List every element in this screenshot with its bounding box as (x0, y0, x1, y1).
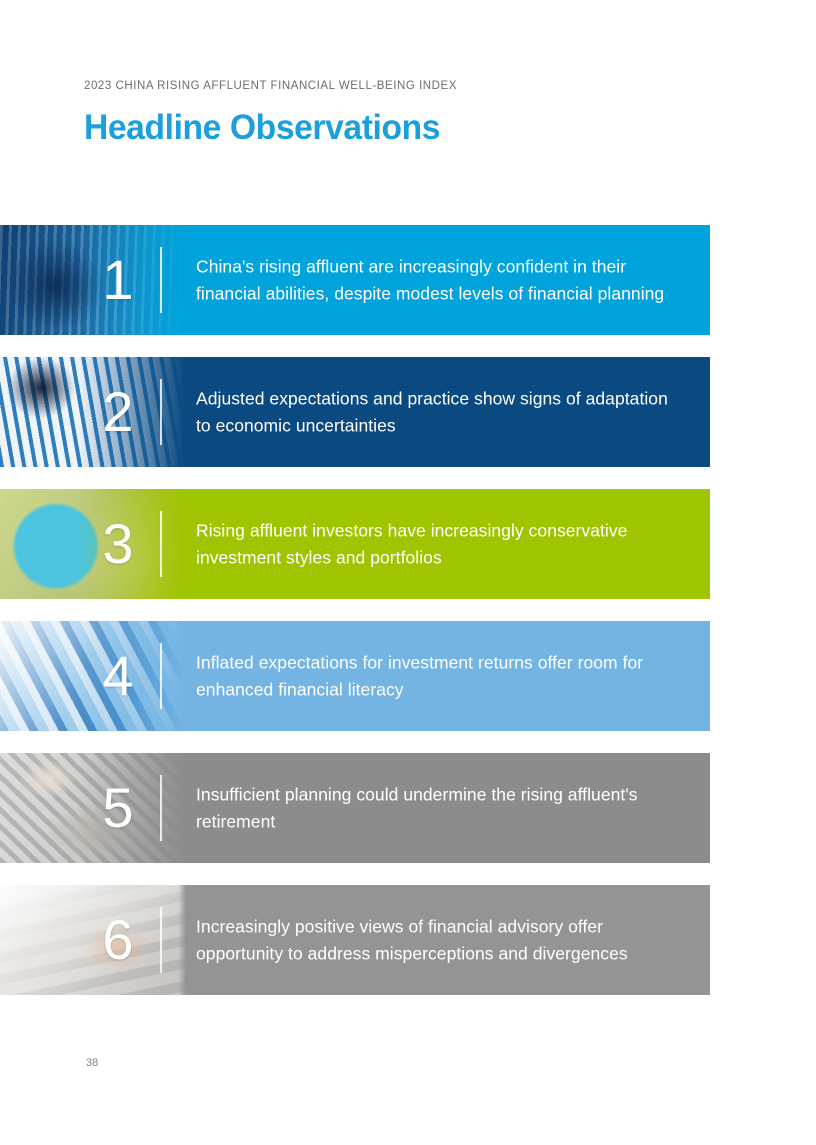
observation-band: 3Rising affluent investors have increasi… (0, 489, 710, 599)
vertical-divider (160, 247, 162, 313)
vertical-divider (160, 643, 162, 709)
observation-text: Inflated expectations for investment ret… (196, 649, 686, 702)
observation-text: Adjusted expectations and practice show … (196, 385, 686, 438)
observations-list: 1China's rising affluent are increasingl… (0, 225, 710, 995)
observation-band: 6Increasingly positive views of financia… (0, 885, 710, 995)
observation-number: 5 (92, 780, 144, 836)
observation-text: Increasingly positive views of financial… (196, 913, 686, 966)
vertical-divider (160, 775, 162, 841)
vertical-divider (160, 907, 162, 973)
page-number: 38 (86, 1057, 98, 1069)
observation-number: 3 (92, 516, 144, 572)
report-eyebrow-label: 2023 CHINA RISING AFFLUENT FINANCIAL WEL… (84, 80, 744, 94)
observation-band: 5Insufficient planning could undermine t… (0, 753, 710, 863)
observation-band: 1China's rising affluent are increasingl… (0, 225, 710, 335)
observation-number: 6 (92, 912, 144, 968)
observation-band: 2Adjusted expectations and practice show… (0, 357, 710, 467)
observation-text: Rising affluent investors have increasin… (196, 517, 686, 570)
observation-number: 1 (92, 252, 144, 308)
page-title: Headline Observations (84, 110, 718, 147)
vertical-divider (160, 511, 162, 577)
observation-text: China's rising affluent are increasingly… (196, 253, 686, 306)
page-header: 2023 CHINA RISING AFFLUENT FINANCIAL WEL… (84, 80, 744, 147)
vertical-divider (160, 379, 162, 445)
observation-number: 4 (92, 648, 144, 704)
observation-number: 2 (92, 384, 144, 440)
observation-text: Insufficient planning could undermine th… (196, 781, 686, 834)
observation-band: 4Inflated expectations for investment re… (0, 621, 710, 731)
